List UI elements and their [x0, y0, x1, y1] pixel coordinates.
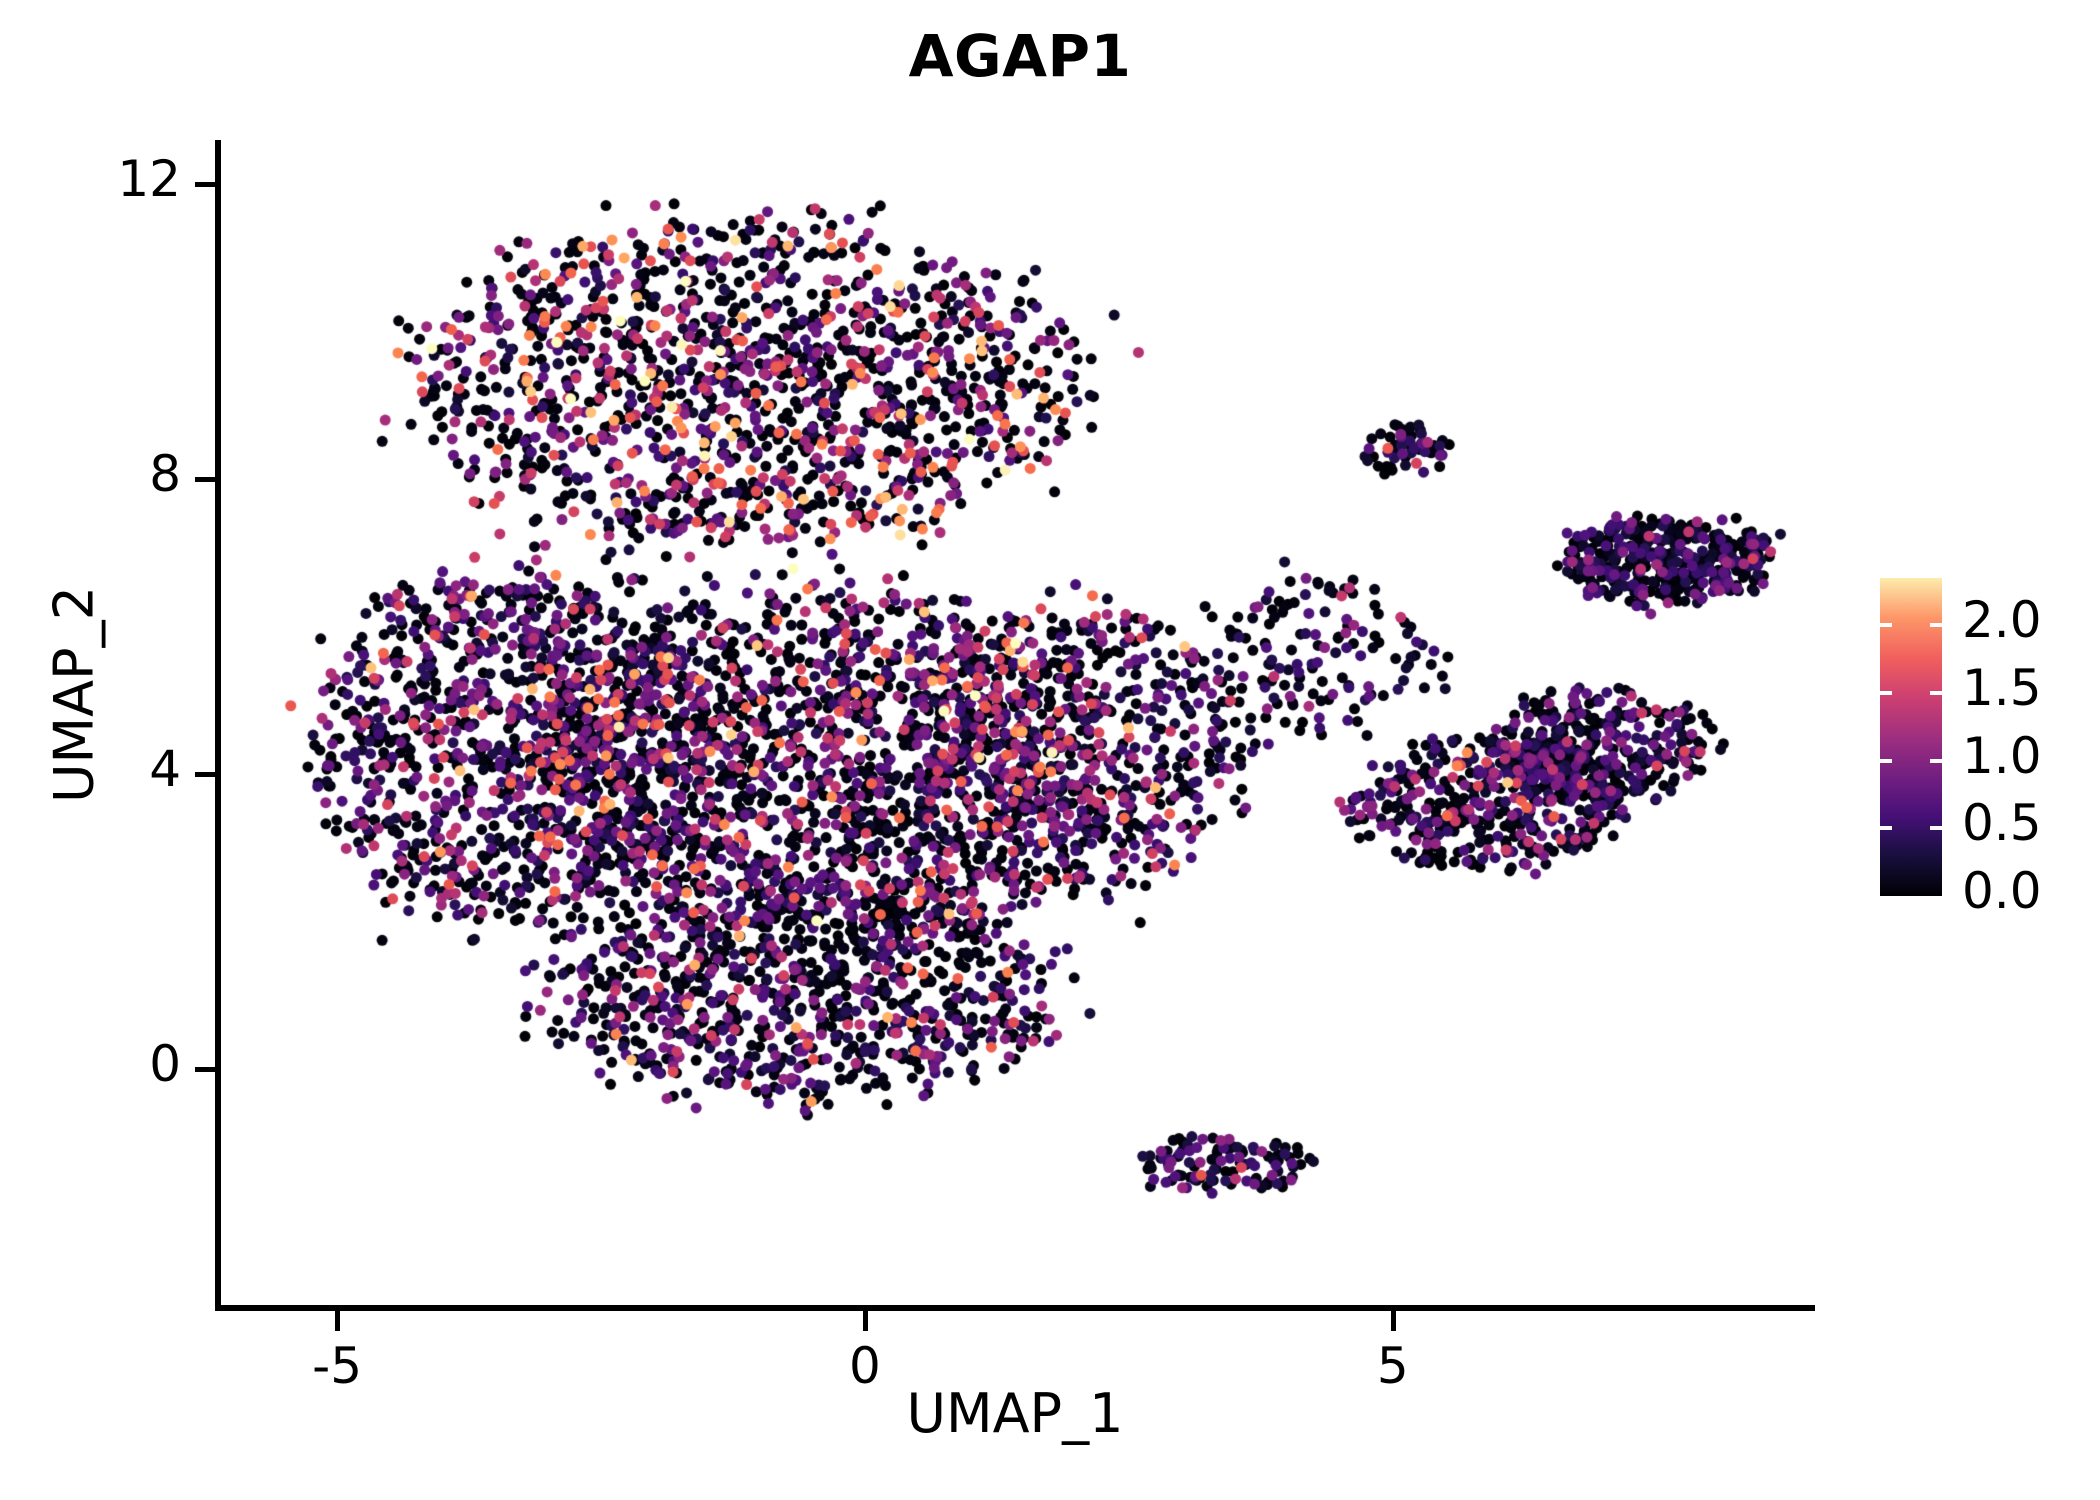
colorbar-tick-mark: [1880, 826, 1892, 830]
y-axis-label: UMAP_2: [43, 395, 106, 995]
y-tick-mark: [195, 477, 215, 482]
colorbar-tick-label: 2.0: [1962, 591, 2042, 649]
colorbar-tick-mark: [1880, 691, 1892, 695]
scatter-plot-canvas: [221, 140, 1815, 1305]
x-axis-spine: [215, 1305, 1815, 1311]
x-axis-label: UMAP_1: [215, 1382, 1815, 1445]
x-tick-mark: [1391, 1311, 1396, 1331]
colorbar-tick-mark: [1930, 623, 1942, 627]
x-tick-mark: [863, 1311, 868, 1331]
page-title: AGAP1: [0, 22, 2040, 90]
colorbar-tick-label: 1.0: [1962, 727, 2042, 785]
colorbar-tick-label: 1.5: [1962, 659, 2042, 717]
y-tick-mark: [195, 182, 215, 187]
colorbar-tick-mark: [1930, 826, 1942, 830]
colorbar-tick-label: 0.0: [1962, 862, 2042, 920]
colorbar-tick-mark: [1880, 759, 1892, 763]
colorbar-tick-mark: [1930, 691, 1942, 695]
y-tick-mark: [195, 1067, 215, 1072]
colorbar-tick-mark: [1930, 759, 1942, 763]
y-tick-mark: [195, 772, 215, 777]
figure-root: AGAP1 12840 -505 UMAP_1 UMAP_2 2.01.51.0…: [0, 0, 2100, 1500]
y-tick-label: 12: [1, 150, 181, 208]
colorbar-tick-label: 0.5: [1962, 794, 2042, 852]
y-tick-label: 0: [1, 1035, 181, 1093]
x-tick-mark: [335, 1311, 340, 1331]
colorbar-tick-mark: [1880, 623, 1892, 627]
